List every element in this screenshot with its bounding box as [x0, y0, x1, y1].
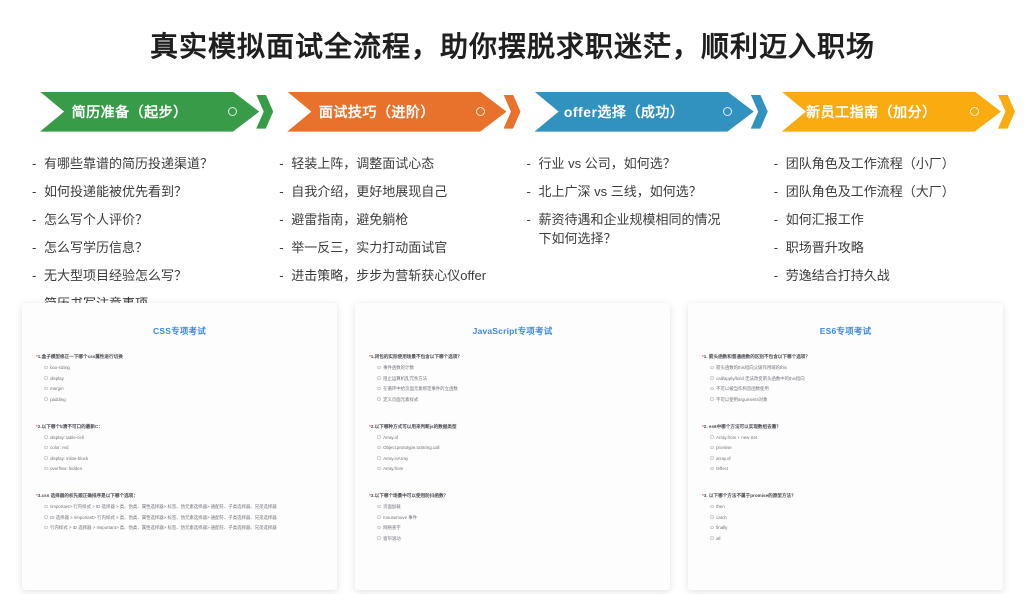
list-item: 怎么写个人评价？: [32, 210, 259, 229]
stage-banner-body-1: 简历准备（起步）: [40, 92, 259, 132]
radio-icon[interactable]: [710, 505, 714, 509]
quiz-question-text: *1.盒子模型修正一下哪个css属性进行切换: [36, 353, 323, 360]
stage-column-1: 简历准备（起步） 有哪些靠谱的简历投递渠道？ 如何投递能被优先看到？ 怎么写个人…: [18, 92, 265, 322]
quiz-option[interactable]: display: [44, 375, 323, 382]
quiz-option[interactable]: catch: [710, 514, 989, 521]
radio-icon[interactable]: [710, 467, 714, 471]
quiz-question: *3.css 选择器的权先顺正确排序是以下哪个选项： !important> 行…: [36, 492, 323, 531]
list-item: 有哪些靠谱的简历投递渠道？: [32, 154, 259, 173]
quiz-question-text: *3. 以下哪个方法不属于promise的原型方法？: [702, 492, 989, 499]
circle-outline-icon: [970, 107, 979, 116]
radio-icon[interactable]: [377, 366, 381, 370]
quiz-card-es6[interactable]: ES6专项考试 *1. 箭头函数和普通函数的区别不包含以下哪个选项？ 箭头函数的…: [688, 303, 1003, 590]
quiz-option[interactable]: overflow: hidden: [44, 465, 323, 472]
list-item: 怎么写学历信息？: [32, 238, 259, 257]
quiz-question-text: *2. es6中哪个方法可以实现数组去重？: [702, 423, 989, 430]
quiz-option[interactable]: all: [710, 535, 989, 542]
radio-icon[interactable]: [44, 435, 48, 439]
quiz-option[interactable]: ID 选择器 > !important> 行内样式 > 类、伪类、属性选择器> …: [44, 514, 323, 521]
quiz-question: *1.盒子模型修正一下哪个css属性进行切换 box-sizing displa…: [36, 353, 323, 403]
radio-icon[interactable]: [44, 376, 48, 380]
quiz-option[interactable]: reflect: [710, 465, 989, 472]
quiz-option[interactable]: !important> 行内样式 > ID 选择器 > 类、伪类、属性选择器> …: [44, 503, 323, 510]
quiz-question: *2. es6中哪个方法可以实现数组去重？ Array.from + new S…: [702, 423, 989, 473]
list-item: 自我介绍，更好地展现自己: [279, 182, 506, 201]
list-item: 北上广深 vs 三线，如何选？: [527, 182, 754, 201]
quiz-option[interactable]: promise: [710, 444, 989, 451]
quiz-question: *1.闭包的实际使用场景不包含以下哪个选项？ 事件函数的计数 阻止运算机乱冗余方…: [369, 353, 656, 403]
slide-root: 真实模拟面试全流程，助你摆脱求职迷茫，顺利迈入职场 简历准备（起步） 有哪些靠谱…: [0, 0, 1025, 594]
stage-banner-4[interactable]: 新员工指南（加分）: [782, 92, 1001, 132]
list-item: 团队角色及工作流程（小厂）: [774, 154, 1001, 173]
quiz-question: *2.以下哪种方式可以用来判断js的数据类型 Array.of Object.p…: [369, 423, 656, 473]
quiz-question-text: *2.以下哪个ધ清不可口的最新C：: [36, 423, 323, 430]
quiz-card-row: CSS专项考试 *1.盒子模型修正一下哪个css属性进行切换 box-sizin…: [0, 303, 1025, 590]
quiz-option[interactable]: 页面加载: [377, 503, 656, 510]
list-item: 劳逸结合打持久战: [774, 266, 1001, 285]
radio-icon[interactable]: [710, 397, 714, 401]
list-item: 团队角色及工作流程（大厂）: [774, 182, 1001, 201]
radio-icon[interactable]: [44, 446, 48, 450]
list-item: 如何投递能被优先看到？: [32, 182, 259, 201]
radio-icon[interactable]: [710, 387, 714, 391]
quiz-option[interactable]: mousemove 事件: [377, 514, 656, 521]
stage-banner-body-4: 新员工指南（加分）: [782, 92, 1001, 132]
stage-list-2: 轻装上阵，调整面试心态 自我介绍，更好地展现自己 避雷指南，避免躺枪 举一反三，…: [271, 154, 506, 285]
list-item: 行业 vs 公司，如何选？: [527, 154, 754, 173]
quiz-question-text: *1.闭包的实际使用场景不包含以下哪个选项？: [369, 353, 656, 360]
quiz-option[interactable]: Array.of: [377, 434, 656, 441]
stage-banner-label-3: offer选择（成功）: [564, 102, 685, 122]
quiz-option[interactable]: 定义页面元素样式: [377, 396, 656, 403]
quiz-question-text: *1. 箭头函数和普通函数的区别不包含以下哪个选项？: [702, 353, 989, 360]
radio-icon[interactable]: [377, 536, 381, 540]
radio-icon[interactable]: [44, 515, 48, 519]
radio-icon[interactable]: [44, 526, 48, 530]
list-item: 无大型项目经验怎么写？: [32, 266, 259, 285]
list-item: 避雷指南，避免躺枪: [279, 210, 506, 229]
radio-icon[interactable]: [377, 505, 381, 509]
quiz-option[interactable]: finally: [710, 524, 989, 531]
radio-icon[interactable]: [377, 387, 381, 391]
radio-icon[interactable]: [377, 467, 381, 471]
stage-list-1: 有哪些靠谱的简历投递渠道？ 如何投递能被优先看到？ 怎么写个人评价？ 怎么写学历…: [24, 154, 259, 313]
circle-outline-icon: [723, 107, 732, 116]
radio-icon[interactable]: [710, 435, 714, 439]
radio-icon[interactable]: [377, 435, 381, 439]
radio-icon[interactable]: [377, 515, 381, 519]
quiz-option[interactable]: Object.prototype.toString.call: [377, 444, 656, 451]
list-item: 薪资待遇和企业规模相同的情况 下如何选择？: [527, 210, 754, 248]
quiz-card-javascript[interactable]: JavaScript专项考试 *1.闭包的实际使用场景不包含以下哪个选项？ 事件…: [355, 303, 670, 590]
quiz-option[interactable]: Array.from + new Set: [710, 434, 989, 441]
quiz-question: *1. 箭头函数和普通函数的区别不包含以下哪个选项？ 箭头函数的this指向父级…: [702, 353, 989, 403]
quiz-option[interactable]: 行内样式 > ID 选择器 > !important> 类、伪类、属性选择器> …: [44, 524, 323, 531]
quiz-question: *3. 以下哪个方法不属于promise的原型方法？ then catch fi…: [702, 492, 989, 542]
quiz-question-text: *3.css 选择器的权先顺正确排序是以下哪个选项：: [36, 492, 323, 499]
quiz-option[interactable]: 窗帘滚动: [377, 535, 656, 542]
circle-outline-icon: [228, 107, 237, 116]
stage-banner-label-4: 新员工指南（加分）: [806, 102, 937, 122]
stage-list-4: 团队角色及工作流程（小厂） 团队角色及工作流程（大厂） 如何汇报工作 职场晋升攻…: [766, 154, 1001, 285]
list-item: 职场晋升攻略: [774, 238, 1001, 257]
quiz-option[interactable]: display: table-cell: [44, 434, 323, 441]
quiz-option[interactable]: 不可以使用arguments对象: [710, 396, 989, 403]
list-item: 轻装上阵，调整面试心态: [279, 154, 506, 173]
quiz-option[interactable]: 事件函数的计数: [377, 364, 656, 371]
quiz-option[interactable]: padding: [44, 396, 323, 403]
quiz-option[interactable]: Array.from: [377, 465, 656, 472]
radio-icon[interactable]: [44, 397, 48, 401]
list-item: 举一反三，实力打动面试官: [279, 238, 506, 257]
quiz-card-title: JavaScript专项考试: [369, 325, 656, 337]
quiz-card-title: CSS专项考试: [36, 325, 323, 337]
quiz-card-css[interactable]: CSS专项考试 *1.盒子模型修正一下哪个css属性进行切换 box-sizin…: [22, 303, 337, 590]
radio-icon[interactable]: [44, 467, 48, 471]
radio-icon[interactable]: [377, 526, 381, 530]
quiz-question-text: *3.以下哪个场景中可以使用防抖函数？: [369, 492, 656, 499]
page-title: 真实模拟面试全流程，助你摆脱求职迷茫，顺利迈入职场: [0, 0, 1025, 64]
quiz-option[interactable]: margin: [44, 385, 323, 392]
quiz-option[interactable]: display: inline-block: [44, 455, 323, 462]
stage-banner-label-2: 面试技巧（进阶）: [319, 102, 435, 122]
radio-icon[interactable]: [44, 456, 48, 460]
radio-icon[interactable]: [710, 456, 714, 460]
radio-icon[interactable]: [44, 366, 48, 370]
stage-column-4: 新员工指南（加分） 团队角色及工作流程（小厂） 团队角色及工作流程（大厂） 如何…: [760, 92, 1007, 322]
radio-icon[interactable]: [710, 536, 714, 540]
radio-icon[interactable]: [377, 397, 381, 401]
quiz-option[interactable]: 网络查字: [377, 524, 656, 531]
radio-icon[interactable]: [710, 515, 714, 519]
radio-icon[interactable]: [377, 376, 381, 380]
radio-icon[interactable]: [710, 366, 714, 370]
stage-banner-3[interactable]: offer选择（成功）: [535, 92, 754, 132]
quiz-question: *2.以下哪个ધ清不可口的最新C： display: table-cell co…: [36, 423, 323, 473]
radio-icon[interactable]: [710, 526, 714, 530]
stage-list-3: 行业 vs 公司，如何选？ 北上广深 vs 三线，如何选？ 薪资待遇和企业规模相…: [519, 154, 754, 248]
quiz-option[interactable]: Array.isArray: [377, 455, 656, 462]
stage-columns: 简历准备（起步） 有哪些靠谱的简历投递渠道？ 如何投递能被优先看到？ 怎么写个人…: [0, 64, 1025, 322]
quiz-option[interactable]: box-sizing: [44, 364, 323, 371]
radio-icon[interactable]: [710, 376, 714, 380]
circle-outline-icon: [476, 107, 485, 116]
quiz-question: *3.以下哪个场景中可以使用防抖函数？ 页面加载 mousemove 事件 网络…: [369, 492, 656, 542]
radio-icon[interactable]: [710, 446, 714, 450]
stage-banner-2[interactable]: 面试技巧（进阶）: [287, 92, 506, 132]
quiz-question-text: *2.以下哪种方式可以用来判断js的数据类型: [369, 423, 656, 430]
stage-banner-body-2: 面试技巧（进阶）: [287, 92, 506, 132]
quiz-option[interactable]: color: red: [44, 444, 323, 451]
quiz-option[interactable]: then: [710, 503, 989, 510]
radio-icon[interactable]: [44, 505, 48, 509]
stage-column-2: 面试技巧（进阶） 轻装上阵，调整面试心态 自我介绍，更好地展现自己 避雷指南，避…: [265, 92, 512, 322]
list-item: 如何汇报工作: [774, 210, 1001, 229]
stage-column-3: offer选择（成功） 行业 vs 公司，如何选？ 北上广深 vs 三线，如何选…: [513, 92, 760, 322]
quiz-option[interactable]: 不可以被当作构造函数使用: [710, 385, 989, 392]
radio-icon[interactable]: [377, 446, 381, 450]
radio-icon[interactable]: [44, 387, 48, 391]
quiz-option[interactable]: 箭头函数的this指向父级作用域的this: [710, 364, 989, 371]
stage-banner-body-3: offer选择（成功）: [535, 92, 754, 132]
quiz-option[interactable]: 阻止运算机乱冗余方法: [377, 375, 656, 382]
quiz-option[interactable]: 在循环中给页面元素绑定事件的立函数: [377, 385, 656, 392]
quiz-card-title: ES6专项考试: [702, 325, 989, 337]
quiz-option[interactable]: array.of: [710, 455, 989, 462]
radio-icon[interactable]: [377, 456, 381, 460]
list-item: 进击策略，步步为营斩获心仪offer: [279, 266, 506, 285]
stage-banner-label-1: 简历准备（起步）: [72, 102, 188, 122]
stage-banner-1[interactable]: 简历准备（起步）: [40, 92, 259, 132]
quiz-option[interactable]: call/apply/bind 无法改变箭头函数中的this指向: [710, 375, 989, 382]
